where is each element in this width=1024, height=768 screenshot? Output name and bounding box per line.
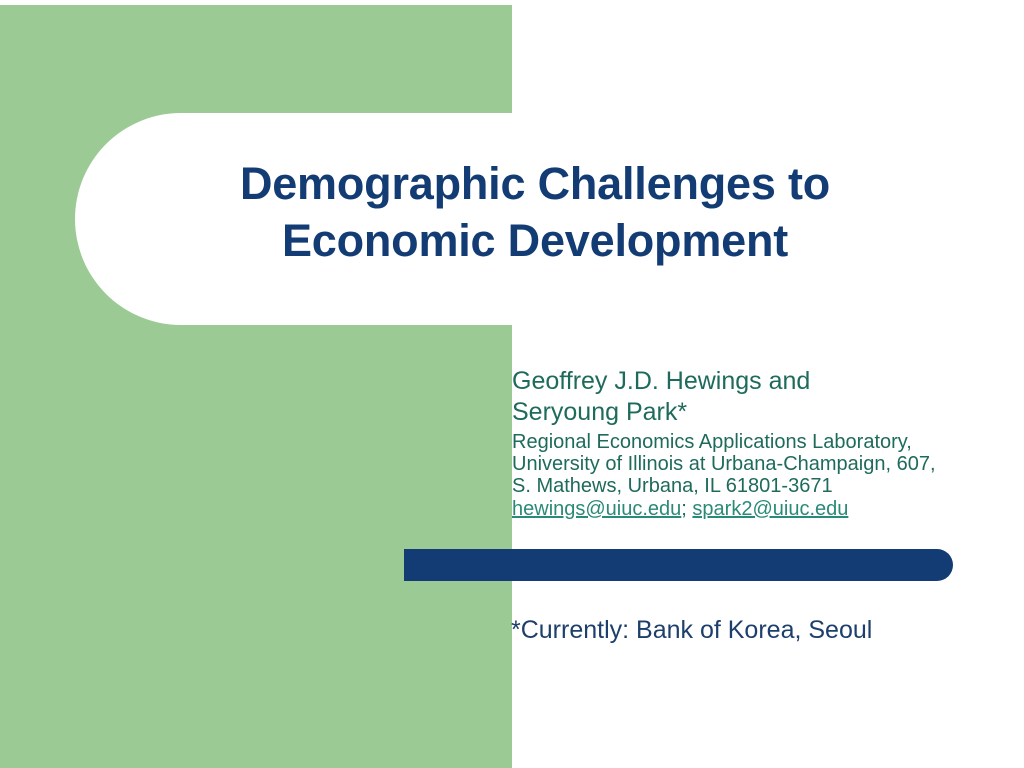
affiliation-line-3: S. Mathews, Urbana, IL 61801-3671	[512, 475, 1012, 497]
presentation-slide: Demographic Challenges to Economic Devel…	[0, 0, 1024, 768]
author-block: Geoffrey J.D. Hewings and Seryoung Park*…	[512, 366, 1012, 521]
email-link-hewings[interactable]: hewings@uiuc.edu	[512, 498, 681, 520]
author-line-2: Seryoung Park*	[512, 397, 1012, 428]
email-separator: ;	[681, 498, 692, 520]
author-line-1: Geoffrey J.D. Hewings and	[512, 366, 1012, 397]
email-line: hewings@uiuc.edu; spark2@uiuc.edu	[512, 497, 1012, 521]
affiliation-line-2: University of Illinois at Urbana-Champai…	[512, 453, 1012, 475]
title-line-1: Demographic Challenges to	[120, 155, 950, 212]
page-title: Demographic Challenges to Economic Devel…	[120, 155, 950, 269]
accent-bar-shape	[404, 549, 953, 581]
footnote-text: *Currently: Bank of Korea, Seoul	[511, 615, 872, 646]
title-line-2: Economic Development	[120, 212, 950, 269]
affiliation-line-1: Regional Economics Applications Laborato…	[512, 431, 1012, 453]
email-link-spark2[interactable]: spark2@uiuc.edu	[692, 498, 848, 520]
affiliation-text: Regional Economics Applications Laborato…	[512, 431, 1012, 497]
